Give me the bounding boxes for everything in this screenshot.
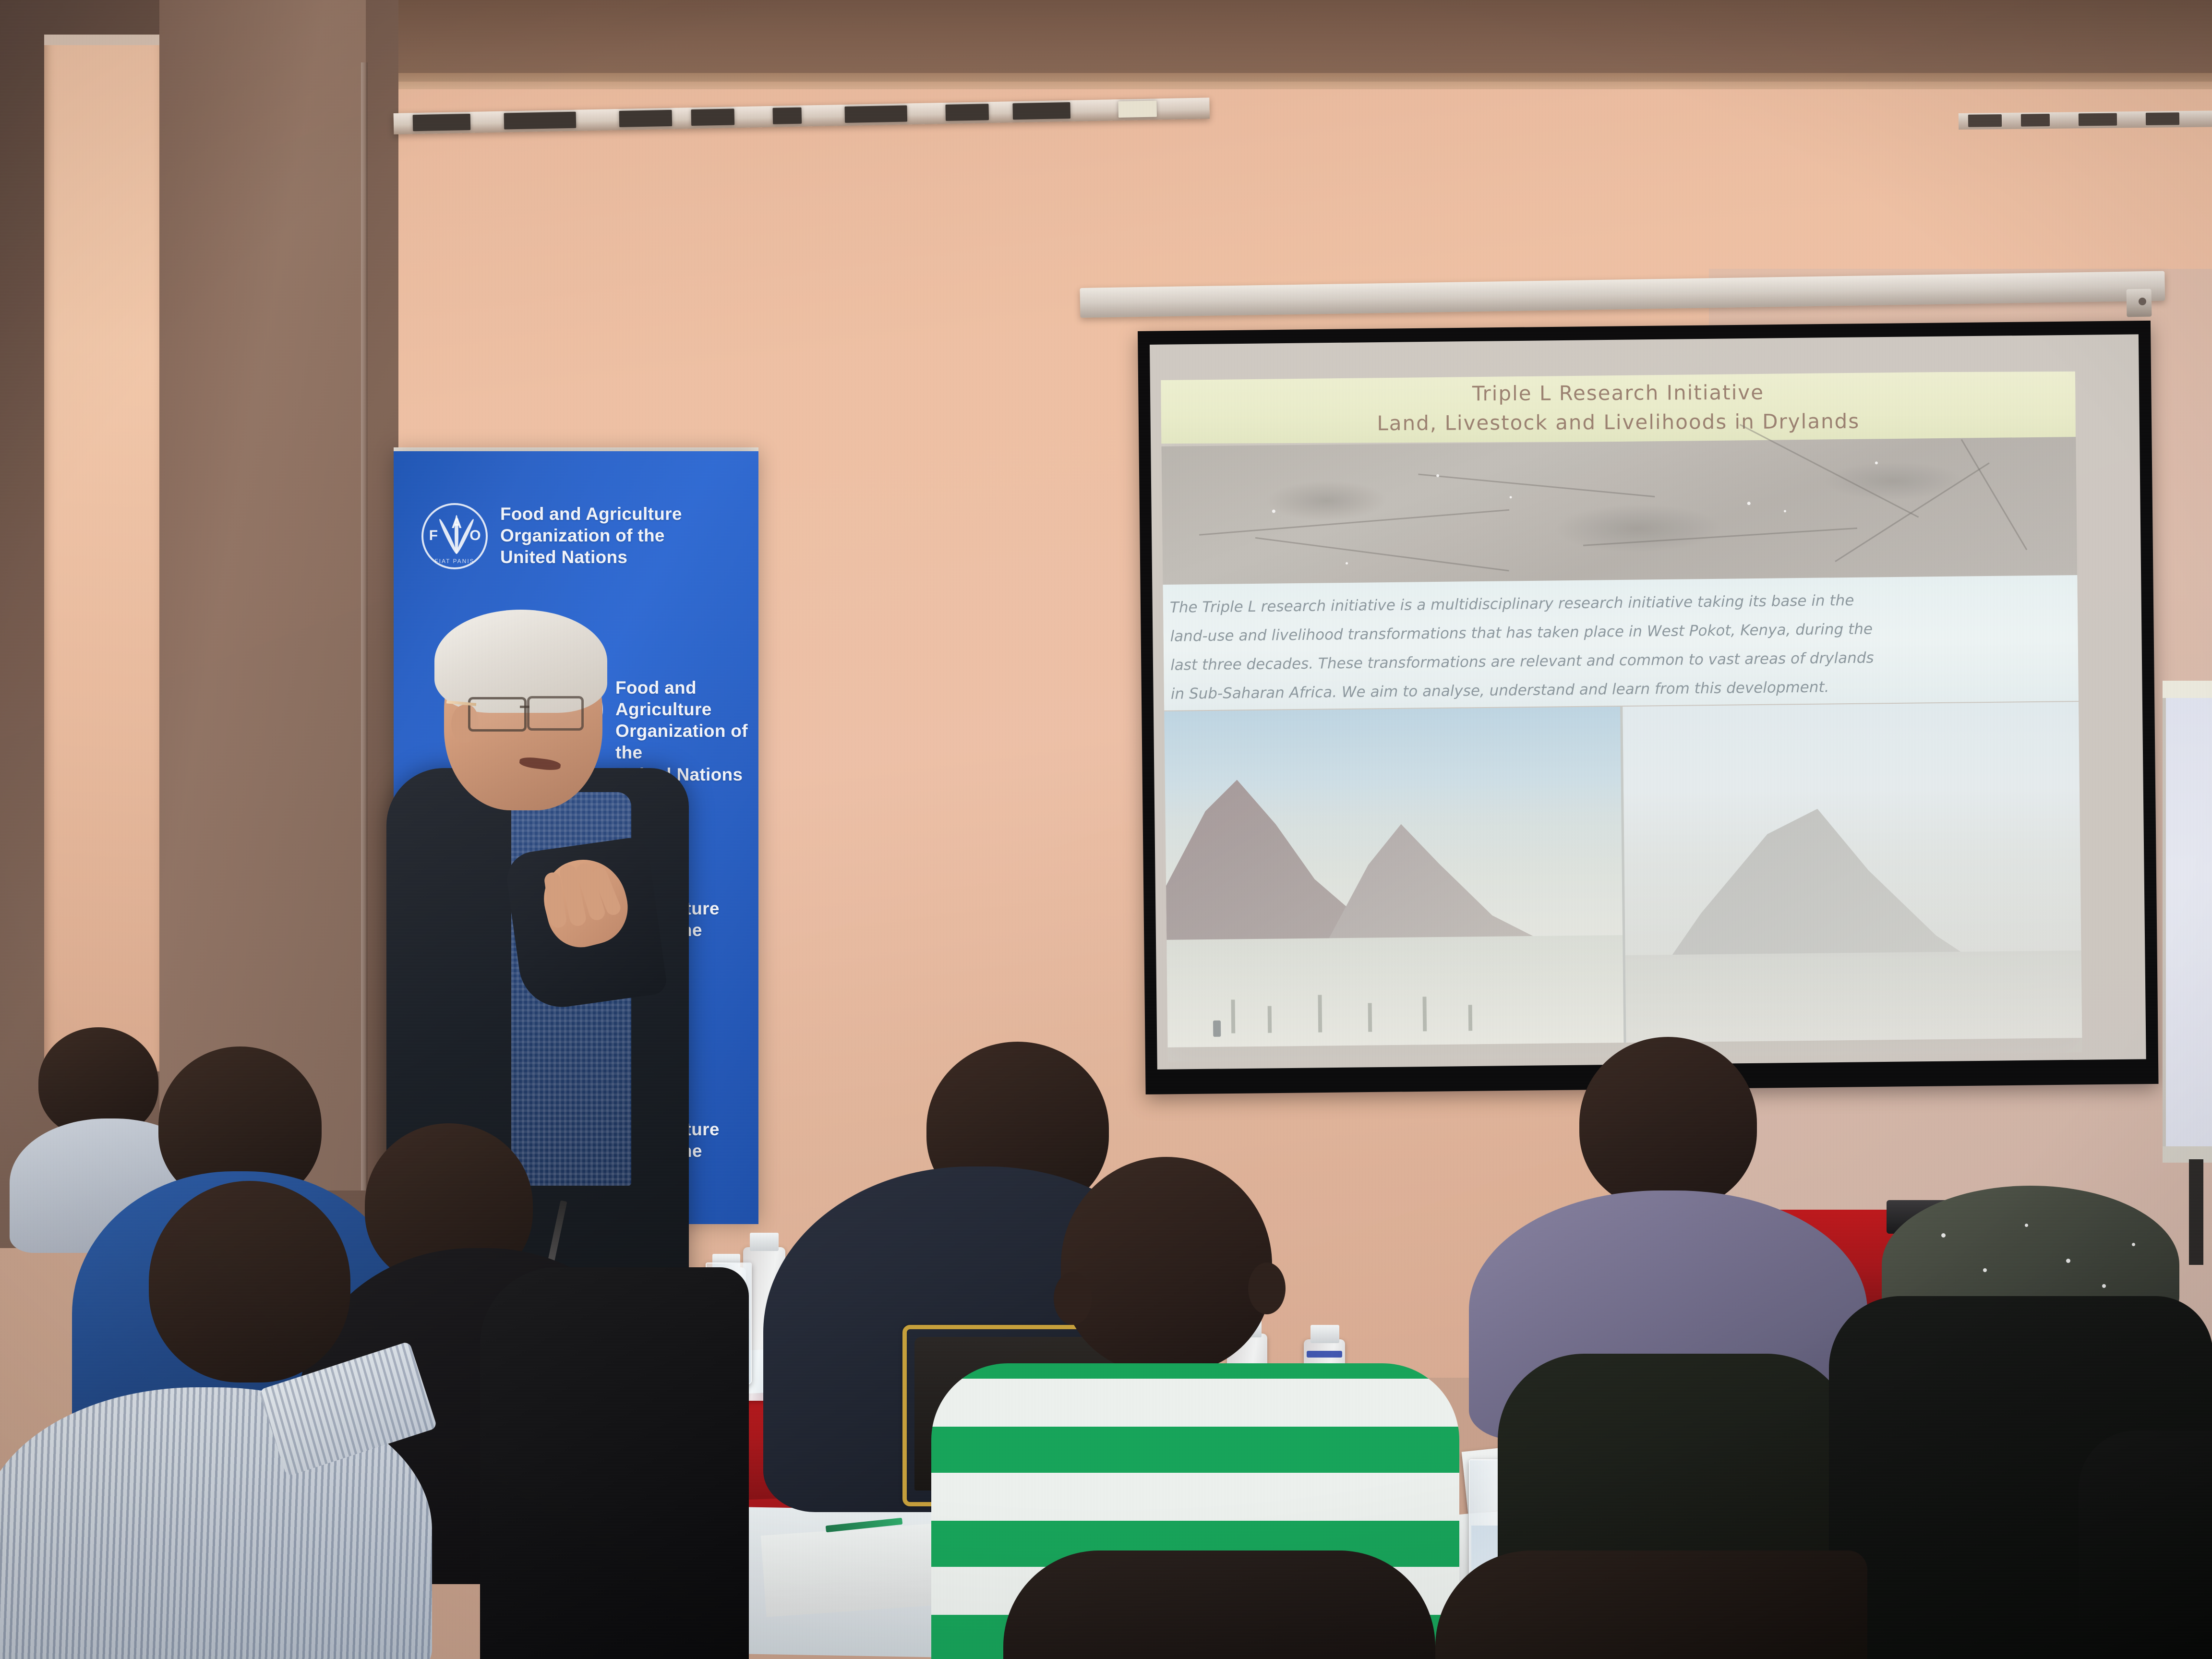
fao-line-1: Food and Agriculture [500, 503, 682, 525]
column-edge-highlight [361, 62, 368, 1190]
attendee-arm-bottom-right [1435, 1551, 1867, 1659]
attendee-head-bottom-centre [1003, 1551, 1435, 1659]
fao-logo-icon: F A O FIAT PANIS [421, 503, 488, 569]
alcove-lintel [44, 35, 159, 45]
whiteboard-top-rail [2163, 681, 2212, 698]
slide-bottom-photo-row [1164, 702, 2082, 1047]
water-bottle-cap-left-1[interactable] [750, 1233, 779, 1251]
water-bottle-cap-centre-3[interactable] [1310, 1325, 1339, 1343]
attendee-ear2-front-striped [1248, 1262, 1286, 1314]
fao-line-2: Organization of the [500, 525, 682, 546]
attendee-shoulder-right-edge [2079, 1431, 2212, 1659]
whiteboard-stand [2189, 1159, 2203, 1265]
wall-ceiling-junction [365, 73, 2212, 89]
attendee-head-front-striped [1061, 1157, 1272, 1373]
slide-photo-dryland-aerial [1161, 437, 2077, 587]
slide-title-band: Triple L Research Initiative Land, Lives… [1161, 372, 2076, 444]
fao-logo-motto: FIAT PANIS [423, 558, 486, 565]
whiteboard[interactable] [2163, 681, 2212, 1161]
speaker-glasses-left-lens [468, 697, 527, 732]
ceiling-light-track-right [1959, 110, 2212, 130]
fao-org-text-top: Food and Agriculture Organization of the… [500, 503, 682, 568]
water-bottle-ring-centre-3 [1307, 1351, 1342, 1358]
conference-room-photograph: Triple L Research Initiative Land, Lives… [0, 0, 2212, 1659]
speaker-glasses-right-lens [527, 696, 584, 731]
slide-title-line-1: Triple L Research Initiative [1472, 381, 1764, 406]
attendee-ear-front-striped [1054, 1272, 1092, 1325]
slide-title-line-2: Land, Livestock and Livelihoods in Dryla… [1377, 409, 1860, 435]
slide-body-text: The Triple L research initiative is a mu… [1163, 575, 2079, 710]
slide-photo-mountain-left [1164, 707, 1623, 1047]
attendee-torso-left-dark-front [480, 1267, 749, 1659]
attendee-head-front-left [149, 1181, 350, 1382]
fao-block-top: F A O FIAT PANIS Food and Agriculture Or… [421, 503, 682, 569]
speaker-glasses-bridge [520, 706, 529, 708]
screen-roller-knob[interactable] [2139, 298, 2146, 305]
slide-photo-mountain-right [1620, 702, 2082, 1043]
wall-column [159, 0, 366, 1190]
fao-line-3: United Nations [500, 546, 682, 568]
attendee-head-right-lavender [1579, 1037, 1757, 1210]
fao-line-2-b: Organization of the [615, 720, 758, 763]
fao-line-1-b: Food and Agriculture [615, 677, 758, 720]
doorway-alcove [44, 35, 159, 1071]
projected-slide: Triple L Research Initiative Land, Lives… [1161, 371, 2082, 1062]
whiteboard-marker-tray [2163, 1146, 2212, 1163]
